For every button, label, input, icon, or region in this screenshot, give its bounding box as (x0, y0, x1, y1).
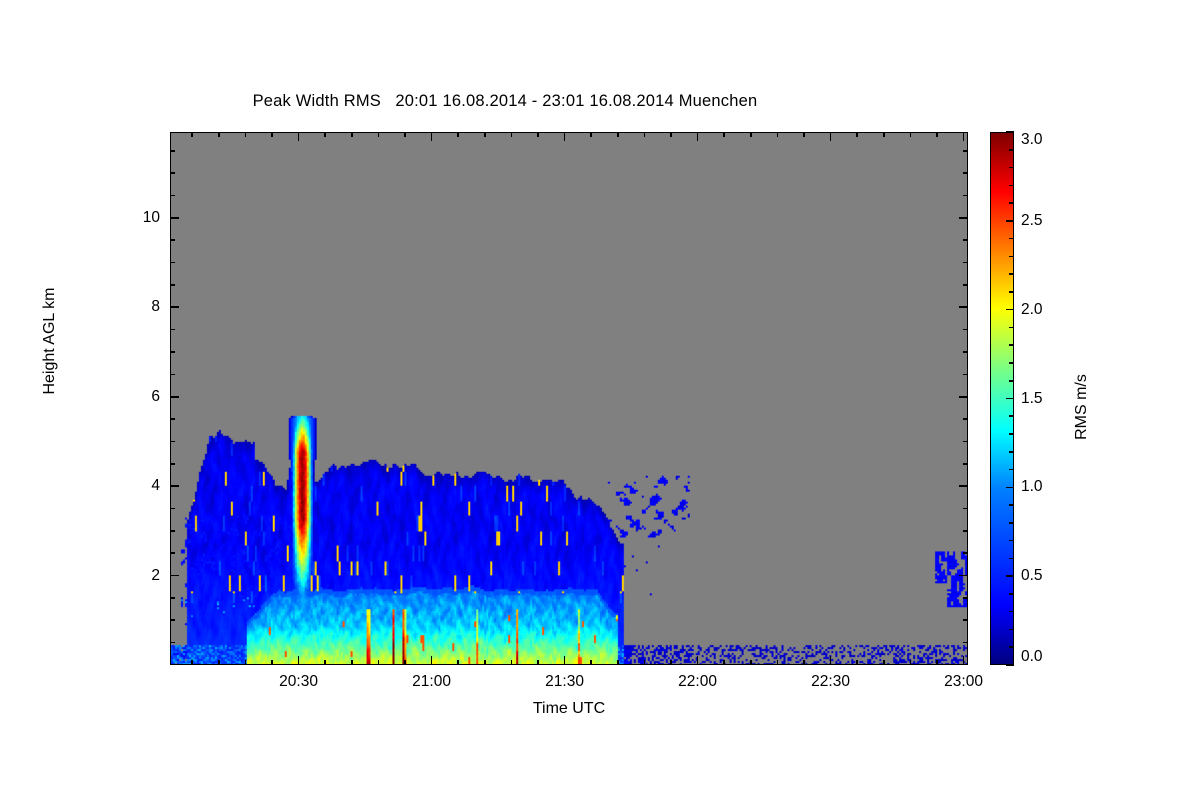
x-tick-minor-top (484, 132, 486, 137)
x-tick-label: 22:30 (811, 673, 850, 691)
x-tick-minor (457, 660, 459, 665)
heatmap-plot-area (170, 132, 968, 665)
x-tick-minor-top (723, 132, 725, 137)
colorbar-tick-label: 0.0 (1021, 648, 1043, 666)
x-tick-minor (910, 660, 912, 665)
y-tick-minor-right (963, 508, 968, 510)
x-tick-minor-top (457, 132, 459, 137)
x-tick-minor-top (777, 132, 779, 137)
x-tick-minor (803, 660, 805, 665)
y-tick-minor-right (963, 239, 968, 241)
y-tick-minor (170, 172, 175, 174)
x-tick-minor (378, 660, 380, 665)
x-tick-label: 21:00 (412, 673, 451, 691)
x-tick-label: 23:00 (944, 673, 983, 691)
y-tick-minor (170, 530, 175, 532)
colorbar-tick-minor (1009, 185, 1014, 187)
colorbar-label: RMS m/s (1073, 307, 1091, 507)
x-tick-minor (777, 660, 779, 665)
colorbar-tick-minor (1009, 558, 1014, 560)
y-tick-minor (170, 329, 175, 331)
x-tick-minor (271, 660, 273, 665)
colorbar-tick-minor (1009, 327, 1014, 329)
x-tick-minor (351, 660, 353, 665)
colorbar-tick-minor (1009, 202, 1014, 204)
y-tick-major (170, 575, 179, 577)
colorbar-tick-minor (1009, 344, 1014, 346)
x-tick-minor (936, 660, 938, 665)
y-tick-minor (170, 597, 175, 599)
x-tick-minor-top (271, 132, 273, 137)
y-tick-minor (170, 463, 175, 465)
colorbar-tick-label: 1.0 (1021, 478, 1043, 496)
x-tick-major (298, 656, 300, 665)
y-tick-major-right (959, 485, 968, 487)
y-tick-minor (170, 441, 175, 443)
colorbar-tick-minor (1009, 167, 1014, 169)
x-tick-minor (245, 660, 247, 665)
y-tick-minor-right (963, 597, 968, 599)
x-tick-minor (856, 660, 858, 665)
y-tick-minor-right (963, 374, 968, 376)
x-tick-minor-top (537, 132, 539, 137)
colorbar-tick-label: 2.0 (1021, 301, 1043, 319)
x-tick-minor-top (324, 132, 326, 137)
x-tick-minor (750, 660, 752, 665)
x-tick-minor-top (936, 132, 938, 137)
x-tick-minor-top (245, 132, 247, 137)
colorbar-tick (1006, 220, 1014, 222)
y-tick-minor-right (963, 463, 968, 465)
colorbar-tick-minor (1009, 362, 1014, 364)
y-tick-minor-right (963, 195, 968, 197)
x-tick-minor (511, 660, 513, 665)
x-tick-minor (723, 660, 725, 665)
y-tick-minor (170, 195, 175, 197)
colorbar-tick-label: 1.5 (1021, 390, 1043, 408)
y-tick-minor-right (963, 418, 968, 420)
page-title: Peak Width RMS 20:01 16.08.2014 - 23:01 … (0, 92, 1010, 111)
x-tick-label: 21:30 (545, 673, 584, 691)
colorbar-tick-minor (1009, 469, 1014, 471)
x-tick-minor-top (404, 132, 406, 137)
y-axis-label: Height AGL km (41, 231, 59, 451)
y-tick-minor (170, 351, 175, 353)
x-tick-minor (404, 660, 406, 665)
colorbar-tick (1006, 131, 1014, 133)
y-tick-minor-right (963, 150, 968, 152)
y-tick-minor (170, 150, 175, 152)
y-tick-major (170, 396, 179, 398)
colorbar-tick-minor (1009, 451, 1014, 453)
y-tick-label: 10 (108, 209, 160, 227)
y-tick-minor-right (963, 530, 968, 532)
colorbar-tick-minor (1009, 273, 1014, 275)
x-tick-minor (324, 660, 326, 665)
x-tick-minor-top (670, 132, 672, 137)
colorbar-tick-label: 0.5 (1021, 567, 1043, 585)
y-tick-major-right (959, 306, 968, 308)
y-tick-minor (170, 284, 175, 286)
y-tick-minor (170, 619, 175, 621)
y-tick-minor (170, 262, 175, 264)
x-tick-major-top (963, 132, 965, 141)
colorbar-tick-minor (1009, 646, 1014, 648)
y-tick-major (170, 306, 179, 308)
colorbar-tick-minor (1009, 238, 1014, 240)
y-tick-minor-right (963, 441, 968, 443)
colorbar-tick (1006, 309, 1014, 311)
y-tick-minor-right (963, 262, 968, 264)
y-tick-minor (170, 418, 175, 420)
x-tick-minor (191, 660, 193, 665)
x-tick-minor (670, 660, 672, 665)
y-tick-minor-right (963, 642, 968, 644)
x-tick-minor-top (856, 132, 858, 137)
heatmap-data-canvas (171, 133, 967, 664)
x-tick-minor (537, 660, 539, 665)
colorbar-tick (1006, 487, 1014, 489)
colorbar-tick (1006, 664, 1014, 666)
x-tick-minor (590, 660, 592, 665)
colorbar-tick-minor (1009, 415, 1014, 417)
x-tick-major (431, 656, 433, 665)
colorbar-tick (1006, 575, 1014, 577)
colorbar-tick (1006, 398, 1014, 400)
colorbar-tick-minor (1009, 291, 1014, 293)
y-tick-label: 2 (108, 567, 160, 585)
y-tick-major (170, 485, 179, 487)
x-tick-minor (883, 660, 885, 665)
x-tick-major (697, 656, 699, 665)
x-tick-minor-top (590, 132, 592, 137)
x-tick-major-top (431, 132, 433, 141)
y-tick-minor (170, 239, 175, 241)
x-tick-minor (484, 660, 486, 665)
y-tick-minor-right (963, 351, 968, 353)
x-tick-major (830, 656, 832, 665)
y-tick-label: 6 (108, 388, 160, 406)
y-tick-minor (170, 552, 175, 554)
y-tick-minor-right (963, 172, 968, 174)
colorbar-tick-label: 3.0 (1021, 131, 1043, 149)
y-tick-minor (170, 642, 175, 644)
colorbar-tick-minor (1009, 611, 1014, 613)
x-tick-label: 20:30 (279, 673, 318, 691)
y-tick-major-right (959, 575, 968, 577)
colorbar-tick-minor (1009, 149, 1014, 151)
x-tick-major (963, 656, 965, 665)
colorbar-tick-minor (1009, 629, 1014, 631)
x-tick-major (564, 656, 566, 665)
x-tick-minor-top (883, 132, 885, 137)
colorbar-tick-minor (1009, 504, 1014, 506)
x-tick-major-top (564, 132, 566, 141)
x-axis-label: Time UTC (170, 700, 968, 718)
x-tick-minor-top (750, 132, 752, 137)
x-tick-minor-top (191, 132, 193, 137)
x-tick-minor-top (511, 132, 513, 137)
x-tick-minor-top (218, 132, 220, 137)
y-tick-minor-right (963, 329, 968, 331)
x-tick-major-top (697, 132, 699, 141)
x-tick-minor (218, 660, 220, 665)
x-tick-minor-top (910, 132, 912, 137)
y-tick-major (170, 217, 179, 219)
x-tick-minor (644, 660, 646, 665)
x-tick-minor-top (378, 132, 380, 137)
y-tick-minor (170, 508, 175, 510)
y-tick-minor (170, 374, 175, 376)
x-tick-minor-top (351, 132, 353, 137)
x-tick-minor-top (617, 132, 619, 137)
y-tick-major-right (959, 396, 968, 398)
colorbar-tick-label: 2.5 (1021, 212, 1043, 230)
colorbar-tick-minor (1009, 540, 1014, 542)
colorbar-tick-minor (1009, 256, 1014, 258)
y-tick-major-right (959, 217, 968, 219)
x-tick-minor (617, 660, 619, 665)
y-tick-minor-right (963, 619, 968, 621)
colorbar-tick-minor (1009, 522, 1014, 524)
colorbar-tick-minor (1009, 433, 1014, 435)
x-tick-major-top (298, 132, 300, 141)
x-tick-minor-top (803, 132, 805, 137)
colorbar-tick-minor (1009, 593, 1014, 595)
y-tick-label: 8 (108, 298, 160, 316)
x-tick-major-top (830, 132, 832, 141)
y-tick-label: 4 (108, 477, 160, 495)
y-tick-minor-right (963, 552, 968, 554)
x-tick-label: 22:00 (678, 673, 717, 691)
figure-canvas: Peak Width RMS 20:01 16.08.2014 - 23:01 … (0, 0, 1200, 800)
colorbar-tick-minor (1009, 380, 1014, 382)
x-tick-minor-top (644, 132, 646, 137)
y-tick-minor-right (963, 284, 968, 286)
